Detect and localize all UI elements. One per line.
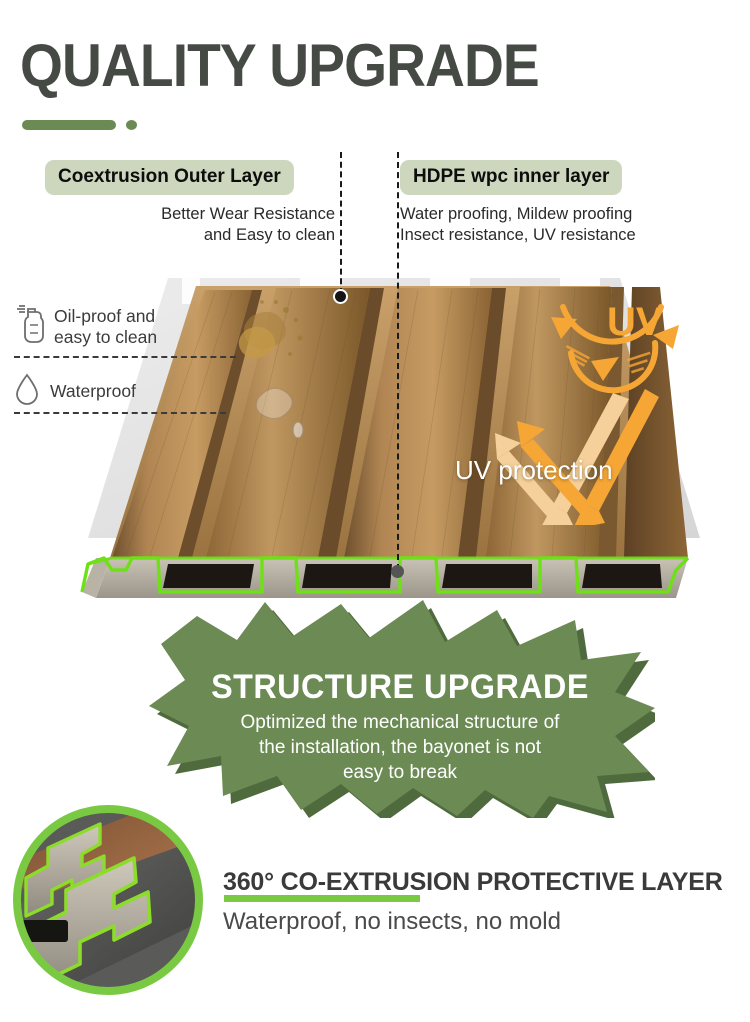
feature-oil-proof: Oil-proof and easy to clean xyxy=(12,303,157,350)
burst-line1: Optimized the mechanical structure of xyxy=(145,710,655,735)
infographic-page: QUALITY UPGRADE xyxy=(0,0,750,1022)
burst-line2: the installation, the bayonet is not xyxy=(145,735,655,760)
feature-oil-line1: Oil-proof and xyxy=(54,306,155,326)
feature-oil-proof-text: Oil-proof and easy to clean xyxy=(54,306,157,348)
feature-oil-leader xyxy=(14,356,236,358)
structure-upgrade-burst: STRUCTURE UPGRADE Optimized the mechanic… xyxy=(145,596,655,818)
callout-inner-line2: Insect resistance, UV resistance xyxy=(400,225,670,246)
spray-bottle-icon xyxy=(12,303,46,350)
bottom-title: 360° CO-EXTRUSION PROTECTIVE LAYER xyxy=(223,868,723,897)
callout-inner-line1: Water proofing, Mildew proofing xyxy=(400,204,670,225)
water-drop-icon xyxy=(12,371,42,412)
feature-oil-line2: easy to clean xyxy=(54,327,157,347)
uv-protection-label: UV protection xyxy=(455,455,613,486)
leader-line-inner-layer xyxy=(397,152,399,570)
burst-title: STRUCTURE UPGRADE xyxy=(158,668,643,707)
bottom-subtitle: Waterproof, no insects, no mold xyxy=(223,908,561,936)
feature-waterproof-leader xyxy=(14,412,226,414)
title-accent-bar xyxy=(22,120,116,130)
callout-text-outer-layer: Better Wear Resistance and Easy to clean xyxy=(45,204,335,246)
feature-waterproof-text: Waterproof xyxy=(50,381,136,402)
feature-waterproof: Waterproof xyxy=(12,371,136,412)
callout-outer-line2: and Easy to clean xyxy=(45,225,335,246)
cross-section-photo-inset xyxy=(8,800,208,1000)
leader-line-outer-layer xyxy=(340,152,342,294)
callout-text-inner-layer: Water proofing, Mildew proofing Insect r… xyxy=(400,204,670,246)
burst-subtitle: Optimized the mechanical structure of th… xyxy=(145,710,655,785)
leader-dot-outer-layer xyxy=(333,289,348,304)
page-title: QUALITY UPGRADE xyxy=(20,36,539,96)
label-coextrusion-outer-layer: Coextrusion Outer Layer xyxy=(45,160,294,195)
callout-outer-line1: Better Wear Resistance xyxy=(45,204,335,225)
uv-badge-text: UV xyxy=(607,300,663,344)
title-accent-dot xyxy=(126,120,137,130)
burst-line3: easy to break xyxy=(145,760,655,785)
label-hdpe-inner-layer: HDPE wpc inner layer xyxy=(400,160,622,195)
leader-dot-inner-layer xyxy=(391,565,404,578)
